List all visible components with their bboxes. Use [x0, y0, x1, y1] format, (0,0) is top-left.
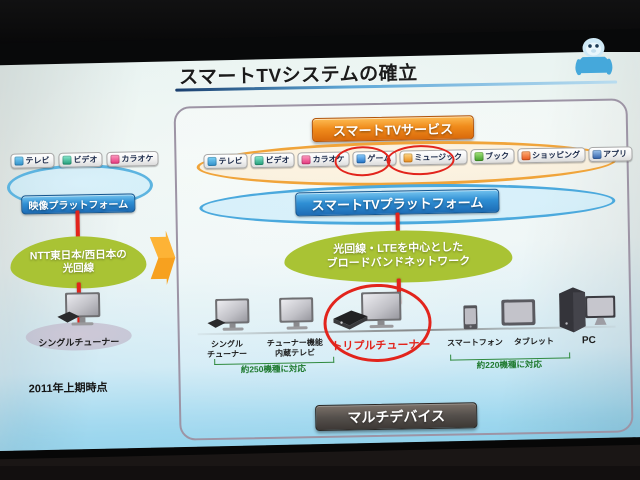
karaoke-icon	[301, 155, 310, 164]
slide-content: スマートTVシステムの確立 テレビ	[0, 0, 640, 480]
shopping-icon	[521, 151, 530, 160]
device-desktop-pc	[559, 287, 618, 339]
book-icon	[474, 152, 483, 161]
device-label-single-tuner: シングル チューナー	[198, 339, 256, 359]
left-service-chip-list: テレビ ビデオ カラオケ	[10, 151, 158, 169]
device-label-builtin-tuner: チューナー機能 内蔵テレビ	[258, 338, 332, 359]
multi-device-banner: マルチデバイス	[315, 402, 477, 431]
device-tablet	[501, 299, 536, 333]
service-chip-tv[interactable]: テレビ	[10, 153, 54, 169]
service-chip-shopping[interactable]: ショッピング	[517, 147, 585, 163]
service-chip-label: ビデオ	[265, 156, 289, 164]
left-network-cloud-line2: 光回線	[63, 262, 95, 276]
service-chip-label: ブック	[485, 152, 509, 160]
device-label-tablet: タブレット	[507, 337, 561, 348]
device-label-pc: PC	[574, 335, 604, 348]
device-label-line1: チューナー機能	[267, 338, 323, 348]
service-chip-book[interactable]: ブック	[470, 148, 514, 164]
device-label-smartphone: スマートフォン	[439, 338, 511, 349]
device-label-line2: チューナー	[207, 349, 247, 359]
service-chip-label: アプリ	[603, 150, 627, 158]
device-smartphone	[463, 305, 478, 334]
device-tv-single-tuner	[207, 298, 254, 340]
service-chip-video[interactable]: ビデオ	[250, 152, 294, 168]
bottom-dark-band-edge	[0, 466, 640, 480]
service-chip-label: テレビ	[218, 157, 242, 165]
support-note-left: 約250機種に対応	[214, 362, 332, 376]
smart-tv-service-banner: スマートTVサービス	[312, 115, 474, 142]
service-chip-karaoke[interactable]: カラオケ	[106, 151, 158, 167]
app-icon	[592, 150, 601, 159]
tv-icon	[14, 156, 23, 165]
service-chip-tv[interactable]: テレビ	[203, 153, 247, 169]
service-chip-label: テレビ	[25, 156, 49, 164]
left-device-label: シングルチューナー	[20, 336, 138, 349]
device-tv-builtin-tuner	[273, 297, 320, 339]
device-label-triple-tuner: トリプルチューナー	[329, 339, 433, 354]
date-note: 2011年上期時点	[29, 379, 108, 396]
transition-arrow-icon	[148, 229, 177, 288]
service-chip-label: ショッピング	[532, 151, 580, 160]
video-icon	[62, 156, 71, 165]
device-label-line2: 内蔵テレビ	[275, 348, 315, 358]
tv-icon	[207, 157, 216, 166]
ntt-mascot-icon	[574, 35, 613, 76]
slide-photo: スマートTVシステムの確立 テレビ	[0, 0, 640, 480]
support-note-right: 約220機種に対応	[450, 357, 568, 371]
service-chip-label: ビデオ	[73, 156, 97, 164]
left-tv-monitor-icon	[57, 292, 102, 340]
service-chip-app[interactable]: アプリ	[588, 146, 632, 162]
video-icon	[254, 156, 263, 165]
service-chip-label: カラオケ	[121, 155, 153, 164]
left-network-cloud-line1: NTT東日本/西日本の	[30, 248, 127, 263]
right-network-cloud-line2: ブロードバンドネットワーク	[327, 255, 471, 271]
service-chip-video[interactable]: ビデオ	[58, 152, 102, 168]
device-label-line1: シングル	[211, 339, 243, 349]
karaoke-icon	[110, 155, 119, 164]
